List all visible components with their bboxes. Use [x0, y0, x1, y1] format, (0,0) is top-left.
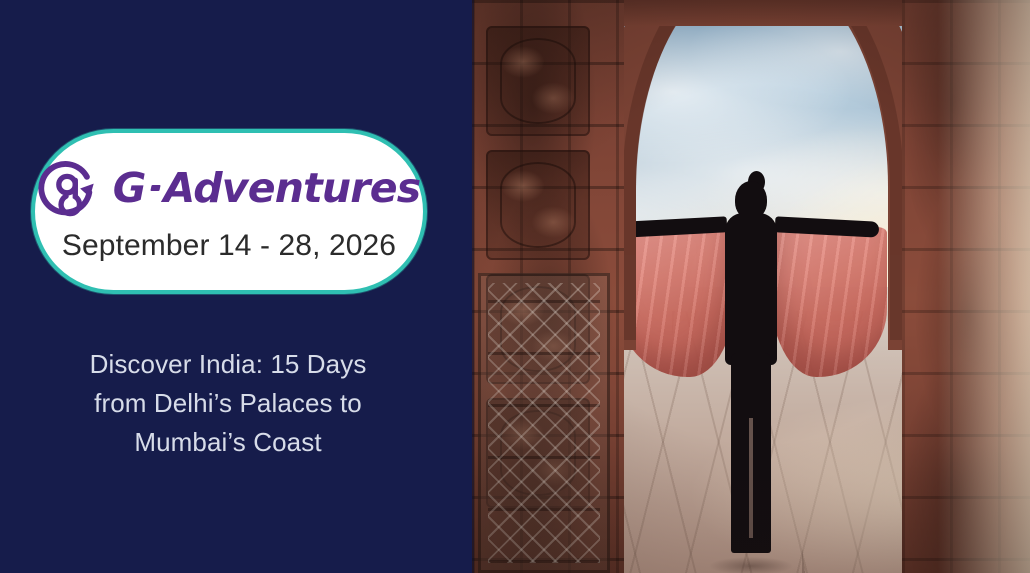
wordmark-separator-dot: [150, 185, 160, 191]
scarf-right-wing: [769, 227, 887, 377]
scarf-left-wing: [619, 227, 737, 377]
wordmark-g: G: [113, 168, 147, 209]
headline-line-2: from Delhi’s Palaces to: [26, 384, 430, 423]
panel-photo-divider: [472, 0, 474, 573]
wordmark-adventures: Adventures: [164, 168, 421, 209]
headline-line-1: Discover India: 15 Days: [26, 345, 430, 384]
brand-wordmark: G Adventures: [113, 168, 421, 209]
g-adventures-circular-arrow-logo-icon: [38, 157, 100, 219]
trip-dates: September 14 - 28, 2026: [35, 229, 423, 263]
scarf-fold-texture-left: [619, 227, 737, 377]
figure-leg-gap: [749, 418, 753, 538]
brand-date-pill: G Adventures September 14 - 28, 2026: [31, 129, 427, 294]
scarf-fold-texture-right: [769, 227, 887, 377]
brand-logo-row: G Adventures: [35, 149, 423, 227]
taj-mahal-photo: [472, 0, 1030, 573]
trip-headline: Discover India: 15 Days from Delhi’s Pal…: [26, 345, 430, 462]
woman-with-scarf-silhouette: [601, 153, 901, 573]
figure-ground-shadow: [691, 553, 811, 573]
travel-promo-banner: G Adventures September 14 - 28, 2026 Dis…: [0, 0, 1030, 573]
headline-line-3: Mumbai’s Coast: [26, 423, 430, 462]
figure-torso: [725, 213, 777, 365]
left-info-panel: G Adventures September 14 - 28, 2026 Dis…: [0, 0, 472, 573]
